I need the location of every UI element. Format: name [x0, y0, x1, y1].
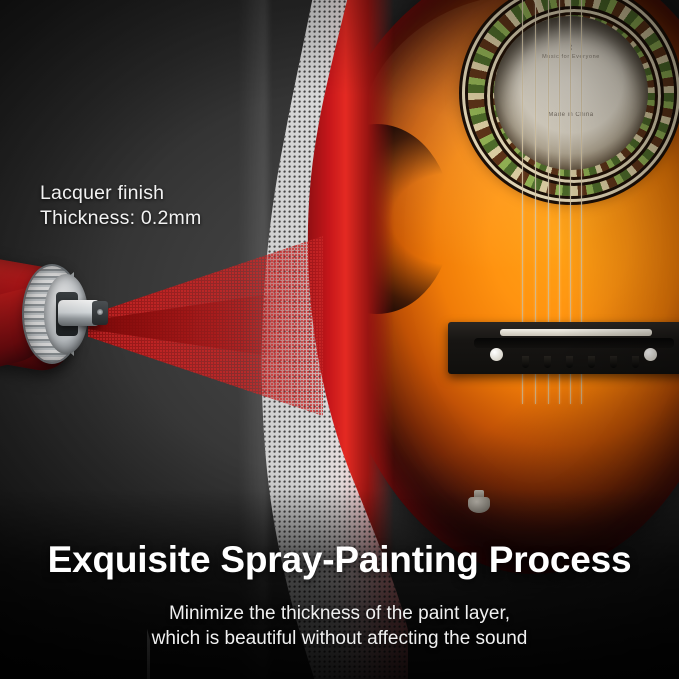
subtitle-block: Minimize the thickness of the paint laye… — [0, 601, 679, 651]
callout-line-2: Thickness: 0.2mm — [40, 206, 201, 231]
headline-title: Exquisite Spray-Painting Process — [0, 539, 679, 581]
lacquer-callout: Lacquer finish Thickness: 0.2mm — [40, 181, 201, 231]
subtitle-line-2: which is beautiful without affecting the… — [0, 626, 679, 651]
product-infographic: ⌇ Music for Everyone Made in China — [0, 0, 679, 679]
subtitle-line-1: Minimize the thickness of the paint laye… — [0, 601, 679, 626]
callout-line-1: Lacquer finish — [40, 181, 201, 206]
